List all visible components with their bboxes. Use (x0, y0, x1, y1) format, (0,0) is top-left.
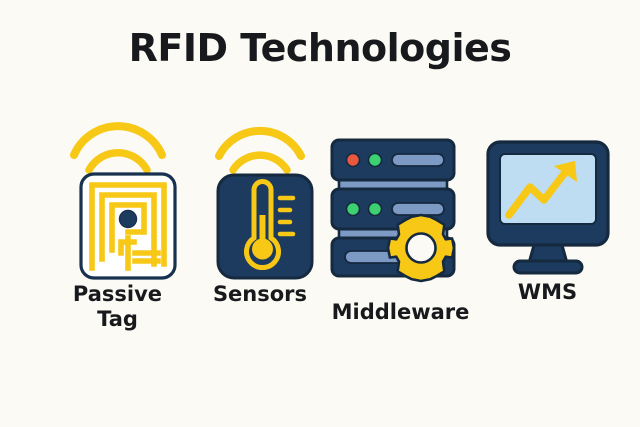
server-slot (392, 203, 444, 215)
monitor-base (514, 261, 582, 273)
item-label-sensors: Sensors (190, 282, 330, 307)
item-label-passive-tag: Passive Tag (40, 282, 195, 332)
server-slot (392, 154, 444, 166)
infographic-canvas: RFID Technologies (0, 0, 640, 427)
item-passive-tag[interactable]: Passive Tag (40, 112, 195, 342)
item-label-wms: WMS (470, 280, 625, 305)
monitor-growth-chart-icon (478, 130, 618, 280)
led-green (369, 154, 382, 167)
led-red (347, 154, 360, 167)
gear-icon (388, 215, 454, 281)
item-sensors[interactable]: Sensors (190, 112, 330, 342)
item-middleware[interactable]: Middleware (318, 130, 483, 342)
led-green (347, 203, 360, 216)
page-title: RFID Technologies (0, 26, 640, 70)
rfid-passive-tag-icon (58, 112, 178, 280)
item-label-middleware: Middleware (318, 300, 483, 325)
tag-chip (120, 211, 137, 228)
item-wms[interactable]: WMS (470, 130, 625, 342)
server-stack-gear-icon (323, 130, 473, 285)
led-green (369, 203, 382, 216)
thermometer-sensor-icon (200, 112, 320, 280)
server-unit-1 (332, 140, 454, 180)
